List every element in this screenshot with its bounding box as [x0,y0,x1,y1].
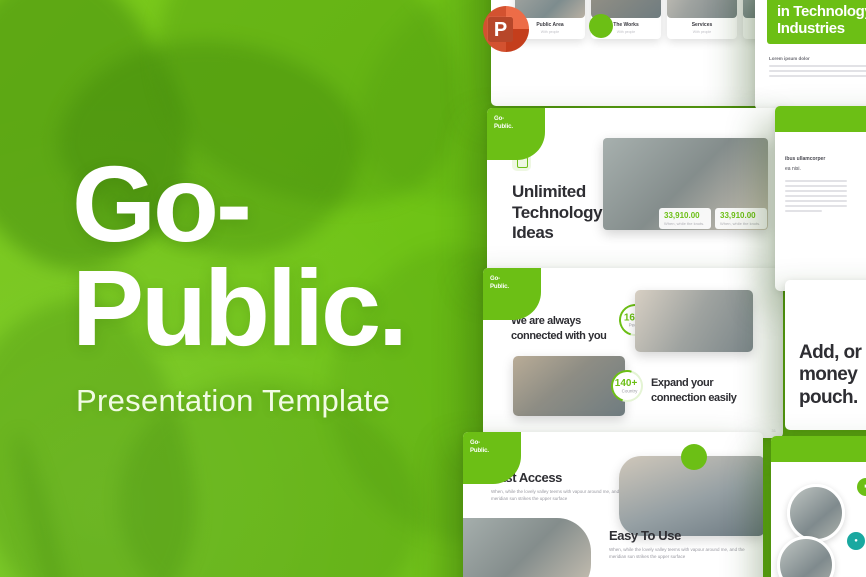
card-label: Services [667,22,737,28]
ng-line-3: Industries [777,21,866,38]
slide-preview-stage: Public Area With people The Works With p… [455,0,866,577]
slide-photo [463,518,591,577]
stat-card: 33,910.00 When, while the knots. [659,208,711,229]
logo-line-1: Go- [470,440,489,448]
text-line [785,180,847,182]
title-line-2: Technology [512,203,602,224]
logo-line-1: Go- [494,116,513,124]
connected-title-2: Expand your connection easily [651,376,737,406]
decorative-circle [681,444,707,470]
stat-label: When, while the knots. [720,221,762,226]
title-line-2: connected with you [511,329,606,344]
users-icon: ● [847,532,865,550]
logo-line-2: Public. [490,284,509,292]
text-line [785,200,847,202]
text-line [785,205,847,207]
slide-preview-text-columns[interactable]: ibus ullamcorper ea nisi. Donec Diam Nul… [775,106,866,291]
slide-photo [513,356,625,416]
slide-top-band [771,436,866,462]
logo-line-1: Go- [490,276,509,284]
title-line-1: Unlimited [512,182,602,203]
title-line-1: Expand your [651,376,737,391]
logo-text: Go- Public. [490,276,509,291]
slide-page-number: 31 [772,428,776,433]
easy-to-use-body: When, while the lovely valley teems with… [609,547,759,561]
text-line [785,185,847,187]
logo-text: Go- Public. [470,440,489,455]
slide-preview-metrics[interactable]: ■ 109,009 When, while the lovely ● 200,6… [771,436,866,577]
stat-label: When, while the knots. [664,221,706,226]
text-column-1: ibus ullamcorper ea nisi. [785,156,847,215]
powerpoint-icon: P [479,2,533,56]
logo-line-2: Public. [470,448,489,456]
text-line [769,70,866,72]
next-generation-title: Next Generation in Technology Industries [777,0,866,37]
metric-row: ■ 109,009 When, while the lovely [857,478,866,496]
next-generation-banner: Next Generation in Technology Industries [767,0,866,44]
card-sublabel: With people [667,30,737,34]
metric-row: ● 200,651 When, while the lovely [847,532,866,550]
avatar [777,536,835,577]
hero-subtitle: Presentation Template [76,383,405,419]
avatar [787,484,845,542]
slide-preview-connected[interactable]: Go- Public. We are always connected with… [483,268,783,438]
brand-logo-corner: Go- Public. [487,108,545,160]
text-line [785,210,822,212]
slide-preview-fast-access[interactable]: Go- Public. Fast Access When, while the … [463,432,763,577]
chart-icon: ■ [857,478,866,496]
logo-text: Go- Public. [494,116,513,131]
ring-label: Country [622,388,638,393]
page-title: Go- Public. [72,152,405,359]
slide-top-band [775,106,866,132]
list-item[interactable]: Services With people [667,0,737,39]
title-line-3: Ideas [512,223,602,244]
slide-preview-add-money[interactable]: Add, or money pouch. [785,280,866,430]
text-line [769,75,866,77]
add-money-title: Add, or money pouch. [799,342,861,409]
slide-preview-next-generation[interactable]: Next Generation in Technology Industries… [755,0,866,110]
logo-line-2: Public. [494,124,513,132]
stat-card: 33,910.00 When, while the knots. [715,208,767,229]
text-line [785,190,847,192]
ng-line-2: in Technology [777,4,866,21]
column-heading: ibus ullamcorper [785,156,847,162]
stat-value: 33,910.00 [664,211,706,220]
brand-logo-corner: Go- Public. [463,432,521,484]
slide-preview-unlimited-ideas[interactable]: Go- Public. Unlimited Technology Ideas 3… [487,108,787,276]
text-line [785,195,847,197]
title-line-3: pouch. [799,387,861,409]
decorative-circle [589,14,613,38]
slide-title: Unlimited Technology Ideas [512,182,602,244]
text-line [769,65,866,67]
connected-title-1: We are always connected with you [511,314,606,344]
card-photo [667,0,737,18]
title-line-2: money [799,364,861,386]
hero-block: Go- Public. Presentation Template [72,152,405,419]
next-generation-body: Lorem ipsum dolor [769,56,866,80]
hero-title-line-1: Go- [72,152,405,256]
title-line-1: Add, or [799,342,861,364]
brand-logo-corner: Go- Public. [483,268,541,320]
svg-text:P: P [494,19,507,41]
title-line-2: connection easily [651,391,737,406]
slide-photo [635,290,753,352]
body-lead: Lorem ipsum dolor [769,56,866,61]
stat-value: 33,910.00 [720,211,762,220]
easy-to-use-title: Easy To Use [609,528,681,543]
column-subheading: ea nisi. [785,166,847,172]
hero-title-line-2: Public. [72,256,405,360]
